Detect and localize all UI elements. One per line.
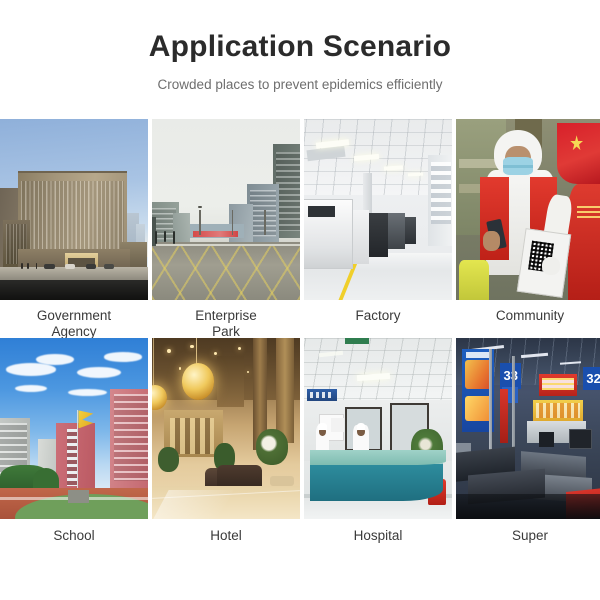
scenario-caption: Government Agency bbox=[0, 300, 148, 338]
scenario-caption: Hotel bbox=[152, 519, 300, 557]
hospital-reception-illustration bbox=[304, 338, 452, 519]
scenario-caption: Factory bbox=[304, 300, 452, 338]
page-header: Application Scenario Crowded places to p… bbox=[0, 0, 600, 93]
page-title: Application Scenario bbox=[0, 30, 600, 63]
scenario-caption: School bbox=[0, 519, 148, 557]
supermarket-checkout-illustration: 33 32 bbox=[456, 338, 600, 519]
hotel-lobby-illustration bbox=[152, 338, 300, 519]
scenario-caption: Hospital bbox=[304, 519, 452, 557]
scenario-card-community[interactable]: Community bbox=[456, 119, 600, 338]
application-scenario-page: Application Scenario Crowded places to p… bbox=[0, 0, 600, 600]
scenario-grid: Government Agency Enterprise Park bbox=[0, 119, 600, 557]
enterprise-park-illustration bbox=[152, 119, 300, 300]
aisle-sign-32: 32 bbox=[583, 367, 600, 391]
scenario-image-hotel[interactable] bbox=[152, 338, 300, 519]
scenario-card-enterprise-park[interactable]: Enterprise Park bbox=[152, 119, 300, 338]
scenario-card-super[interactable]: 33 32 Super bbox=[456, 338, 600, 557]
scenario-image-community[interactable] bbox=[456, 119, 600, 300]
scenario-image-factory[interactable] bbox=[304, 119, 452, 300]
government-building-illustration bbox=[0, 119, 148, 300]
page-subtitle: Crowded places to prevent epidemics effi… bbox=[0, 77, 600, 93]
scenario-image-hospital[interactable] bbox=[304, 338, 452, 519]
scenario-image-government-agency[interactable] bbox=[0, 119, 148, 300]
scenario-image-school[interactable] bbox=[0, 338, 148, 519]
scenario-card-government-agency[interactable]: Government Agency bbox=[0, 119, 148, 338]
scenario-caption: Community bbox=[456, 300, 600, 338]
factory-interior-illustration bbox=[304, 119, 452, 300]
scenario-caption: Enterprise Park bbox=[152, 300, 300, 338]
school-campus-illustration bbox=[0, 338, 148, 519]
scenario-card-factory[interactable]: Factory bbox=[304, 119, 452, 338]
scenario-card-school[interactable]: School bbox=[0, 338, 148, 557]
scenario-card-hospital[interactable]: Hospital bbox=[304, 338, 452, 557]
aisle-sign-33: 33 bbox=[500, 363, 521, 388]
scenario-image-enterprise-park[interactable] bbox=[152, 119, 300, 300]
scenario-image-super[interactable]: 33 32 bbox=[456, 338, 600, 519]
scenario-caption: Super bbox=[456, 519, 600, 557]
community-volunteer-illustration bbox=[456, 119, 600, 300]
scenario-card-hotel[interactable]: Hotel bbox=[152, 338, 300, 557]
